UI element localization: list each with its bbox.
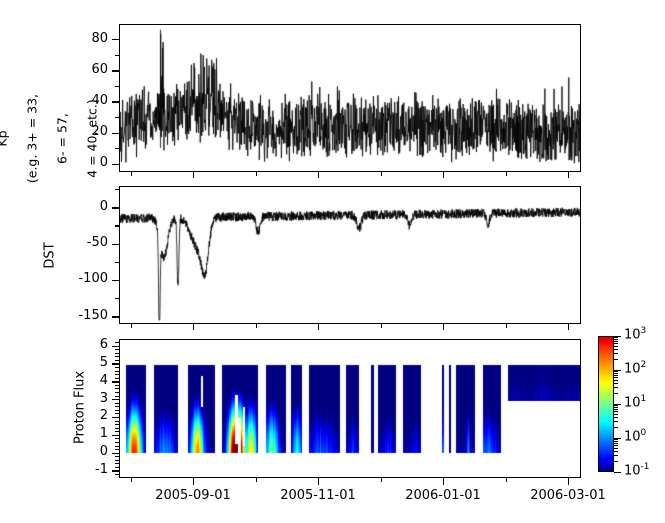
axis-tick-label: -50	[0, 235, 108, 250]
axis-tick-label: 0	[0, 199, 108, 214]
axis-tick	[506, 324, 507, 328]
colorbar-tick-label: 10-1	[624, 462, 650, 478]
axis-tick-label: -150	[0, 308, 108, 323]
axis-tick	[614, 380, 618, 381]
axis-tick	[115, 410, 119, 411]
axis-tick-label: 4	[0, 373, 108, 388]
axis-tick-label: 60	[0, 62, 108, 77]
axis-tick	[115, 225, 119, 226]
axis-tick	[381, 172, 382, 176]
axis-tick	[614, 427, 618, 428]
axis-tick	[568, 478, 569, 485]
axis-tick	[115, 189, 119, 190]
axis-tick	[614, 455, 618, 456]
axis-tick	[115, 446, 119, 447]
axis-tick	[115, 453, 119, 454]
axis-tick	[112, 280, 119, 281]
axis-tick	[614, 349, 618, 350]
axis-tick	[614, 337, 618, 338]
axis-tick	[112, 39, 119, 40]
colorbar-tick-label: 103	[624, 326, 646, 342]
axis-tick	[112, 70, 119, 71]
axis-tick	[115, 392, 119, 393]
axis-tick-label: -100	[0, 271, 108, 286]
axis-tick	[443, 172, 444, 178]
axis-tick	[115, 388, 119, 389]
axis-tick	[318, 172, 319, 178]
axis-tick	[112, 133, 119, 134]
axis-tick	[115, 424, 119, 425]
axis-tick-label: 6	[0, 337, 108, 352]
axis-tick	[614, 421, 618, 422]
axis-tick	[115, 342, 119, 343]
axis-tick	[115, 360, 119, 361]
axis-tick	[614, 417, 618, 418]
figure-canvas: Kp (e.g. 3+ = 33, 6- = 57, 4 = 40, etc.)…	[0, 0, 665, 523]
axis-tick	[131, 324, 132, 328]
axis-tick	[193, 172, 194, 178]
axis-tick	[112, 207, 119, 208]
axis-tick-label: 0	[0, 444, 108, 459]
axis-tick	[115, 403, 119, 404]
axis-tick-label: 80	[0, 31, 108, 46]
axis-tick	[115, 262, 119, 263]
axis-tick	[115, 356, 119, 357]
colorbar-gradient	[598, 336, 614, 472]
axis-tick-label: 3	[0, 391, 108, 406]
axis-tick	[614, 341, 618, 342]
axis-tick	[614, 343, 618, 344]
axis-tick	[443, 324, 444, 330]
axis-tick	[115, 474, 119, 475]
axis-tick	[115, 371, 119, 372]
axis-tick	[115, 367, 119, 368]
axis-tick	[614, 411, 618, 412]
axis-tick	[115, 438, 119, 439]
axis-tick	[193, 478, 194, 485]
axis-tick	[614, 393, 618, 394]
axis-tick	[115, 421, 119, 422]
axis-tick	[115, 346, 119, 347]
axis-tick	[115, 396, 119, 397]
dst-series-canvas	[120, 187, 580, 323]
axis-tick-label: -1	[0, 462, 108, 477]
axis-tick	[614, 387, 618, 388]
x-axis-tick-label: 2005-09-01	[138, 488, 248, 503]
axis-tick	[614, 414, 618, 415]
axis-tick	[614, 461, 618, 462]
axis-tick	[115, 467, 119, 468]
axis-tick	[115, 364, 119, 365]
axis-tick	[614, 409, 618, 410]
axis-tick	[614, 353, 618, 354]
axis-tick	[614, 405, 618, 406]
axis-tick-label: 40	[0, 93, 108, 108]
axis-tick	[614, 371, 618, 372]
axis-tick	[115, 449, 119, 450]
axis-tick	[112, 244, 119, 245]
axis-tick-label: 0	[0, 155, 108, 170]
axis-tick	[115, 413, 119, 414]
axis-tick	[115, 86, 119, 87]
axis-tick	[256, 478, 257, 482]
axis-tick	[614, 377, 618, 378]
axis-tick	[193, 324, 194, 330]
axis-tick-label: 1	[0, 426, 108, 441]
axis-tick	[115, 428, 119, 429]
axis-tick	[115, 399, 119, 400]
x-axis-tick-label: 2006-03-01	[513, 488, 623, 503]
axis-tick-label: 5	[0, 355, 108, 370]
axis-tick	[614, 451, 618, 452]
axis-tick	[115, 374, 119, 375]
axis-tick	[115, 417, 119, 418]
axis-tick	[131, 172, 132, 176]
axis-tick	[614, 445, 618, 446]
axis-tick	[115, 431, 119, 432]
axis-tick	[381, 324, 382, 328]
axis-tick	[381, 478, 382, 482]
kp-series-canvas	[120, 25, 580, 171]
axis-tick	[614, 359, 618, 360]
axis-tick	[506, 172, 507, 176]
axis-tick	[614, 375, 618, 376]
axis-tick	[614, 383, 618, 384]
axis-tick-label: 20	[0, 124, 108, 139]
axis-tick	[115, 385, 119, 386]
axis-tick-label: 2	[0, 408, 108, 423]
axis-tick	[318, 324, 319, 330]
axis-tick	[506, 478, 507, 482]
axis-tick	[256, 324, 257, 328]
axis-tick	[443, 478, 444, 485]
axis-tick	[115, 460, 119, 461]
axis-tick	[112, 164, 119, 165]
colorbar-tick-label: 101	[624, 394, 646, 410]
axis-tick	[614, 439, 618, 440]
axis-tick	[614, 407, 618, 408]
axis-tick	[115, 55, 119, 56]
proton-flux-heatmap	[120, 340, 580, 477]
axis-tick	[115, 435, 119, 436]
colorbar-tick-label: 102	[624, 360, 646, 376]
axis-tick	[115, 442, 119, 443]
axis-tick	[112, 316, 119, 317]
axis-tick	[115, 378, 119, 379]
axis-tick	[568, 172, 569, 178]
axis-tick	[614, 373, 618, 374]
axis-tick	[115, 353, 119, 354]
axis-tick	[115, 470, 119, 471]
axis-tick	[112, 101, 119, 102]
axis-tick	[115, 406, 119, 407]
x-axis-tick-label: 2005-11-01	[263, 488, 373, 503]
axis-tick	[131, 478, 132, 482]
axis-tick	[256, 172, 257, 176]
axis-tick	[115, 148, 119, 149]
axis-tick	[115, 463, 119, 464]
axis-tick	[318, 478, 319, 485]
axis-tick	[614, 441, 618, 442]
axis-tick	[115, 117, 119, 118]
axis-tick	[614, 448, 618, 449]
axis-tick	[115, 298, 119, 299]
axis-tick	[614, 472, 621, 473]
axis-tick	[115, 381, 119, 382]
axis-tick	[568, 324, 569, 330]
colorbar: 10-1100101102103	[598, 336, 658, 476]
axis-tick	[115, 349, 119, 350]
axis-tick	[614, 339, 618, 340]
axis-tick	[614, 443, 618, 444]
x-axis-tick-label: 2006-01-01	[388, 488, 498, 503]
axis-tick	[614, 346, 618, 347]
colorbar-tick-label: 100	[624, 428, 646, 444]
axis-tick	[115, 456, 119, 457]
